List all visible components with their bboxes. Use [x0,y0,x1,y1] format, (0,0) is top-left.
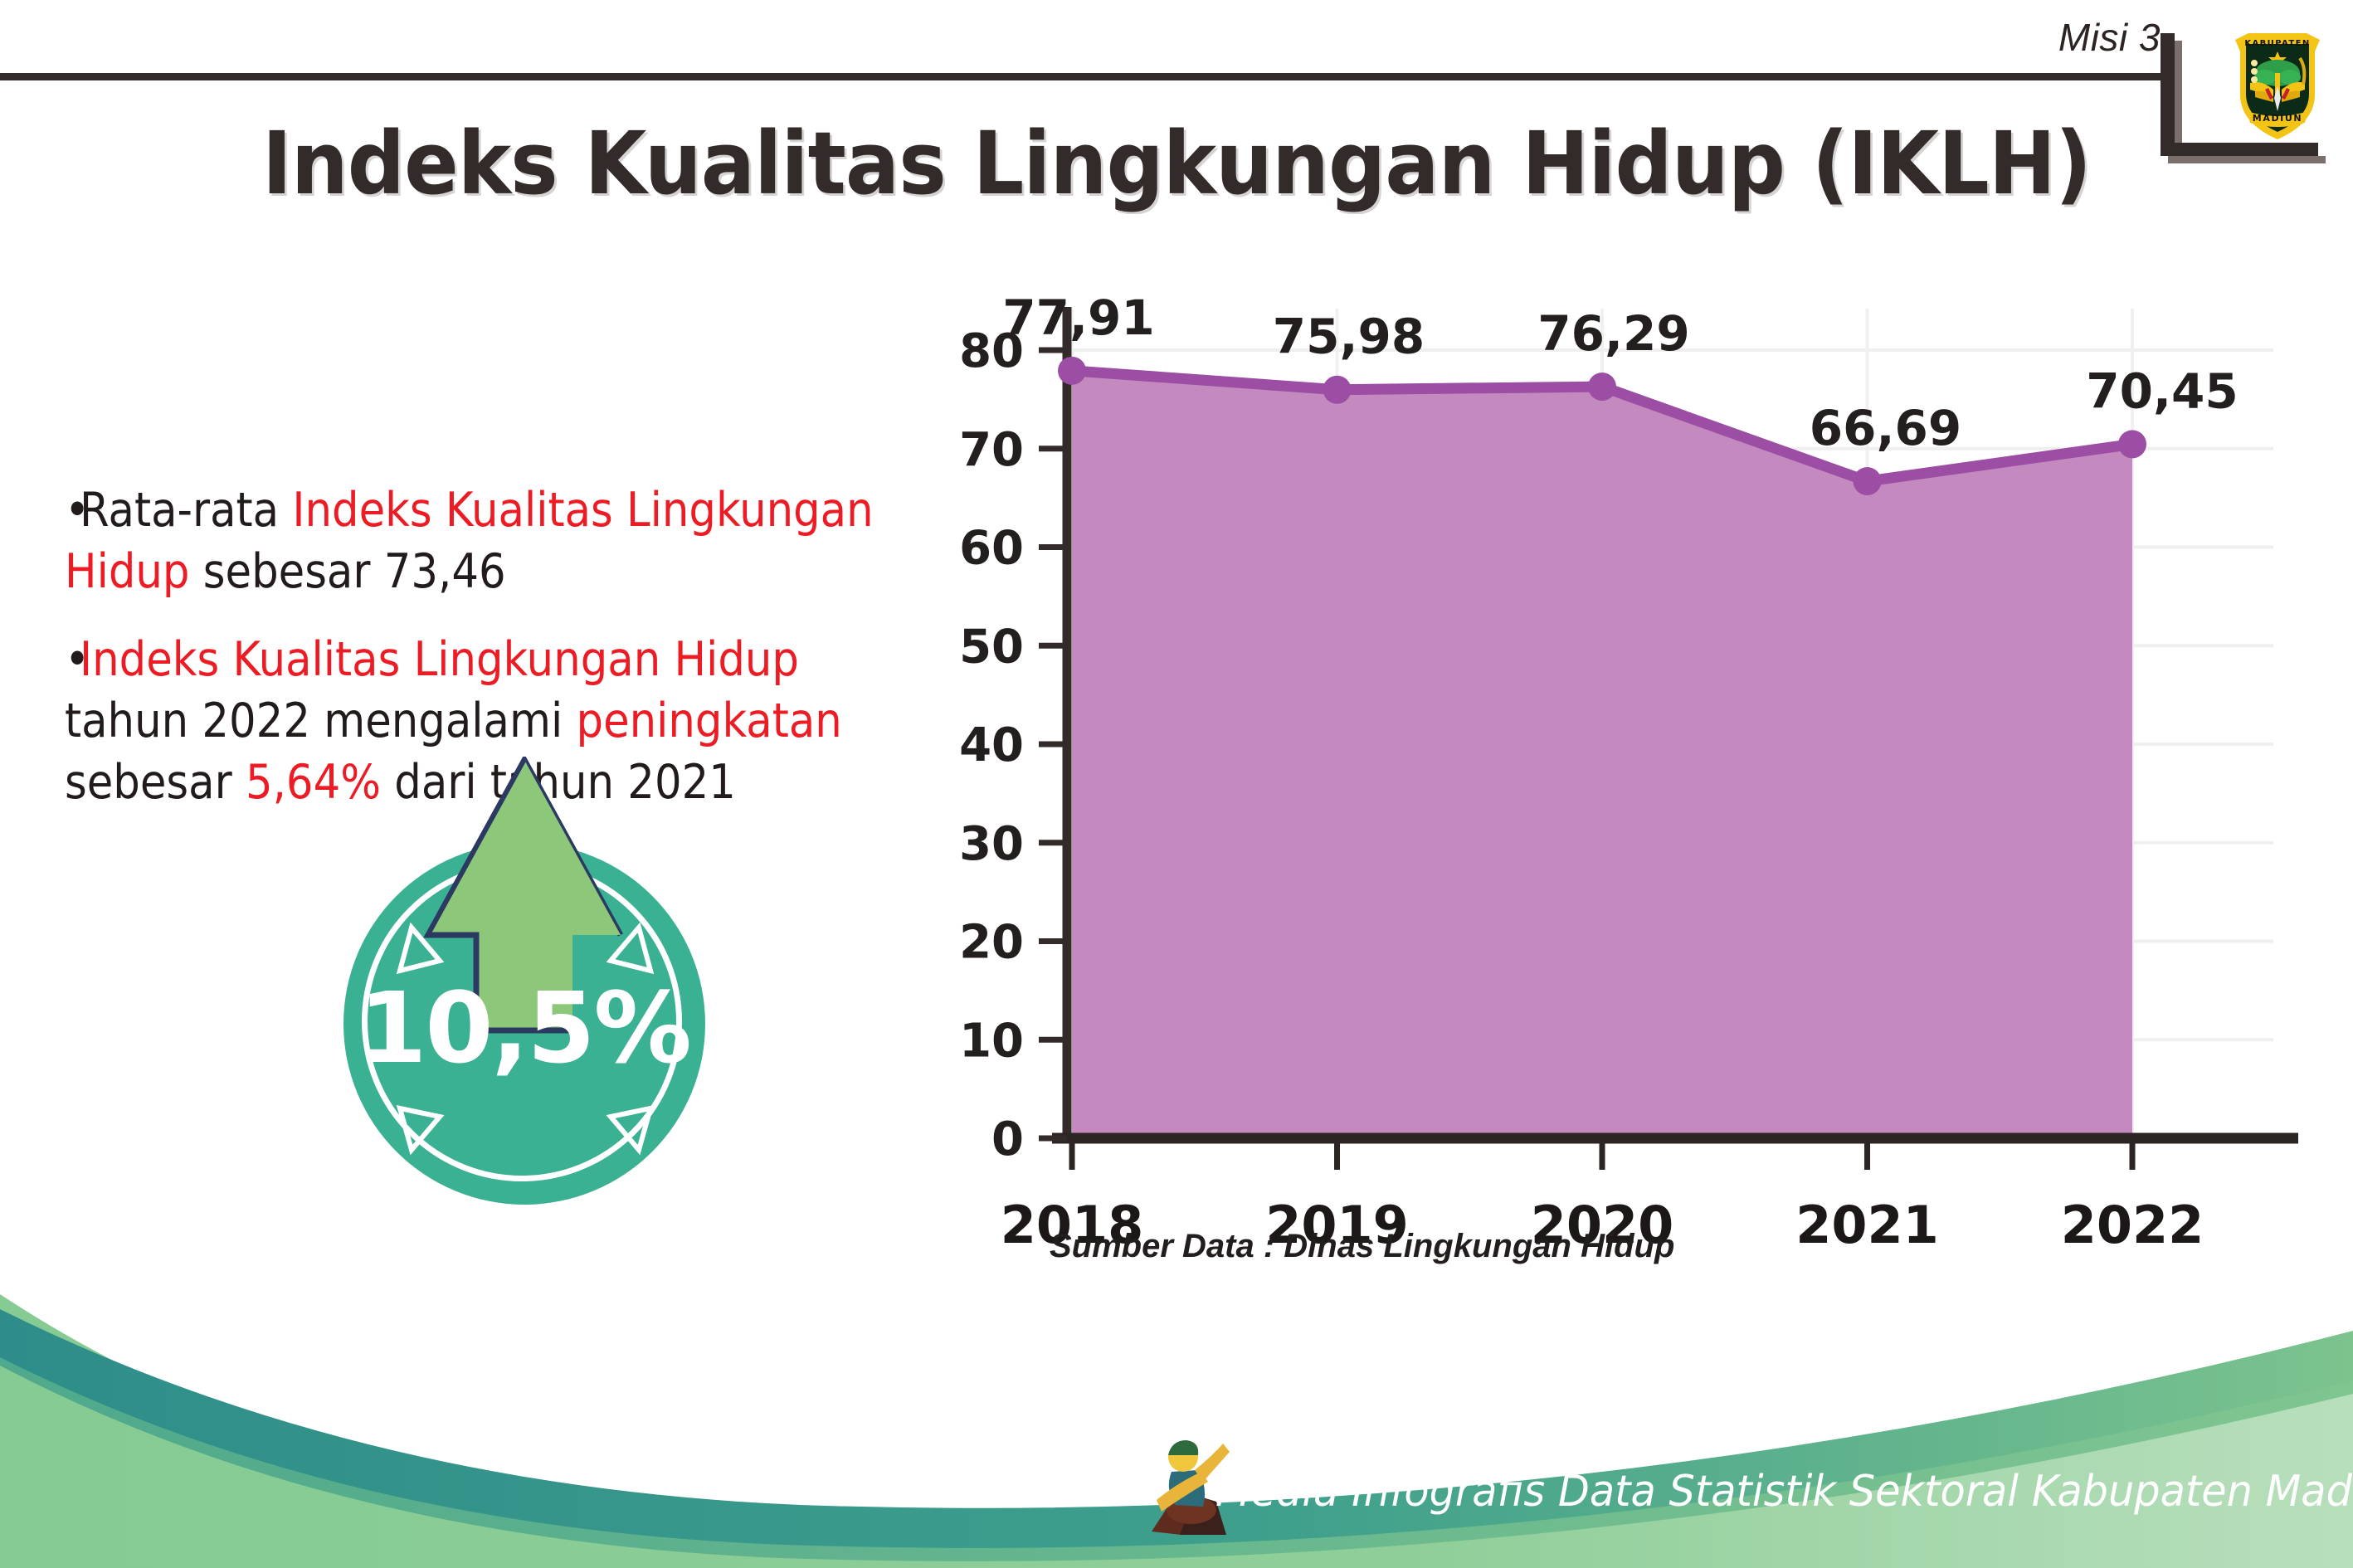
data-label: 70,45 [2086,363,2238,419]
bullet-segment-3: sebesar [65,755,246,810]
data-point [1058,357,1086,385]
y-tick-label: 0 [991,1113,1024,1166]
y-tick-label: 40 [959,718,1024,772]
iklh-area-chart: 01020304050607080 20182019202020212022 7… [954,299,2298,1278]
bullet-segment-0: Indeks Kualitas Lingkungan Hidup [80,632,799,687]
y-tick-label: 70 [959,423,1024,477]
x-tick-label: 2021 [1795,1195,1939,1255]
x-tick-label: 2022 [2061,1195,2204,1255]
bullet-item-average: •Rata-rata Indeks Kualitas Lingkungan Hi… [65,480,879,602]
y-tick-label: 20 [959,916,1024,970]
data-label: 75,98 [1273,309,1425,365]
bullet-marker: • [65,629,80,690]
area-fill [1072,371,2132,1138]
bullet-segment-1: tahun 2022 mengalami [65,694,577,748]
y-tick-label: 30 [959,817,1024,871]
page-title: Indeks Kualitas Lingkungan Hidup (IKLH) [82,113,2270,214]
y-tick-label: 10 [959,1014,1024,1068]
mission-label: Misi 3 [2058,15,2161,60]
data-point [1323,376,1352,404]
chart-y-axis-ticks: 01020304050607080 [959,324,1067,1166]
footer-caption: Media Infografis Data Statistik Sektoral… [1215,1467,2353,1517]
header-divider [0,73,2174,80]
svg-text:KABUPATEN: KABUPATEN [2244,39,2310,48]
data-point [1854,467,1882,495]
y-tick-label: 50 [959,620,1024,674]
chart-source-note: Sumber Data : Dinas Lingkungan Hidup [1050,1228,1674,1265]
bullet-marker: • [65,480,80,541]
bullet-segment-2: sebesar 73,46 [189,544,505,599]
change-badge: 10,5% [332,757,763,1205]
chart-area-series [1072,371,2132,1138]
data-point [1588,373,1616,401]
bullet-segment-2: peningkatan [577,694,842,748]
badge-value: 10,5% [343,971,705,1085]
data-label: 66,69 [1810,400,1961,456]
y-tick-label: 60 [959,522,1024,576]
bullet-segment-0: Rata-rata [80,483,292,538]
data-label: 76,29 [1537,305,1689,362]
data-point [2118,430,2146,458]
data-label: 77,91 [1002,299,1154,346]
